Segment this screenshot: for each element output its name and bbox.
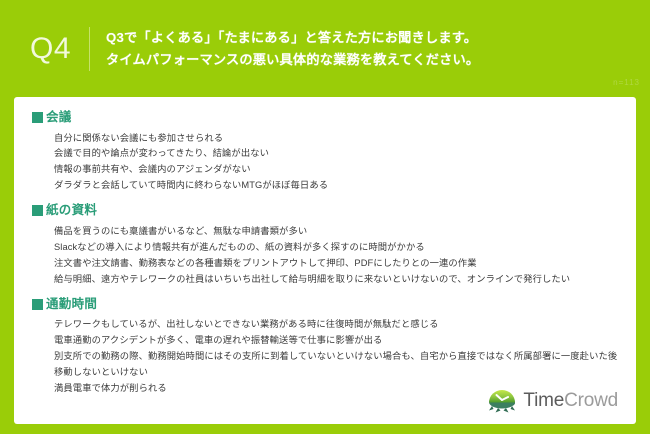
- section-header: 紙の資料: [32, 204, 618, 217]
- header-watermark: n=113: [613, 78, 640, 87]
- question-text: Q3で「よくある」「たまにある」と答えた方にお聞きします。 タイムパフォーマンス…: [106, 27, 479, 70]
- list-item: 自分に関係ない会議にも参加させられる: [54, 131, 618, 147]
- list-item: 会議で目的や論点が変わってきたり、結論が出ない: [54, 146, 618, 162]
- logo-text-time: Time: [523, 390, 564, 411]
- list-item: Slackなどの導入により情報共有が進んだものの、紙の資料が多く探すのに時間がか…: [54, 240, 618, 256]
- list-item: 備品を買うのにも稟議書がいるなど、無駄な申請書類が多い: [54, 224, 618, 240]
- question-line-1: Q3で「よくある」「たまにある」と答えた方にお聞きします。: [106, 27, 479, 48]
- section-commute-time: 通勤時間 テレワークもしているが、出社しないとできない業務がある時に往復時間が無…: [32, 298, 618, 397]
- header-divider: [89, 27, 90, 71]
- list-item: 給与明細、遠方やテレワークの社員はいちいち出社して給与明細を取りに来ないといけな…: [54, 272, 618, 288]
- section-header: 通勤時間: [32, 298, 618, 311]
- question-line-2: タイムパフォーマンスの悪い具体的な業務を教えてください。: [106, 49, 479, 70]
- section-paper-documents: 紙の資料 備品を買うのにも稟議書がいるなど、無駄な申請書類が多い Slackなど…: [32, 204, 618, 287]
- square-marker-icon: [32, 205, 43, 216]
- square-marker-icon: [32, 112, 43, 123]
- list-item: ダラダラと会話していて時間内に終わらないMTGがほぼ毎日ある: [54, 178, 618, 194]
- list-item: 情報の事前共有や、会議内のアジェンダがない: [54, 162, 618, 178]
- timecrowd-logo: TimeCrowd: [487, 386, 618, 416]
- section-title: 紙の資料: [46, 204, 97, 217]
- logo-text-crowd: Crowd: [564, 390, 618, 411]
- list-item: テレワークもしているが、出社しないとできない業務がある時に往復時間が無駄だと感じ…: [54, 317, 618, 333]
- answers-card: 会議 自分に関係ない会議にも参加させられる 会議で目的や論点が変わってきたり、結…: [14, 97, 636, 424]
- timecrowd-wordmark: TimeCrowd: [523, 390, 618, 412]
- list-item: 電車通勤のアクシデントが多く、電車の遅れや振替輸送等で仕事に影響が出る: [54, 333, 618, 349]
- section-header: 会議: [32, 111, 618, 124]
- list-item: 別支所での勤務の際、勤務開始時間にはその支所に到着していないといけない場合も、自…: [54, 349, 618, 381]
- slide-header: Q4 Q3で「よくある」「たまにある」と答えた方にお聞きします。 タイムパフォー…: [0, 0, 650, 97]
- list-item: 注文書や注文請書、勤務表などの各種書類をプリントアウトして押印、PDFにしたりと…: [54, 256, 618, 272]
- section-title: 通勤時間: [46, 298, 97, 311]
- section-title: 会議: [46, 111, 72, 124]
- section-meetings: 会議 自分に関係ない会議にも参加させられる 会議で目的や論点が変わってきたり、結…: [32, 111, 618, 194]
- slide-root: Q4 Q3で「よくある」「たまにある」と答えた方にお聞きします。 タイムパフォー…: [0, 0, 650, 434]
- question-number: Q4: [30, 34, 89, 64]
- section-item-list: 備品を買うのにも稟議書がいるなど、無駄な申請書類が多い Slackなどの導入によ…: [32, 224, 618, 288]
- square-marker-icon: [32, 299, 43, 310]
- timecrowd-turtle-clock-icon: [487, 386, 517, 416]
- section-item-list: 自分に関係ない会議にも参加させられる 会議で目的や論点が変わってきたり、結論が出…: [32, 131, 618, 195]
